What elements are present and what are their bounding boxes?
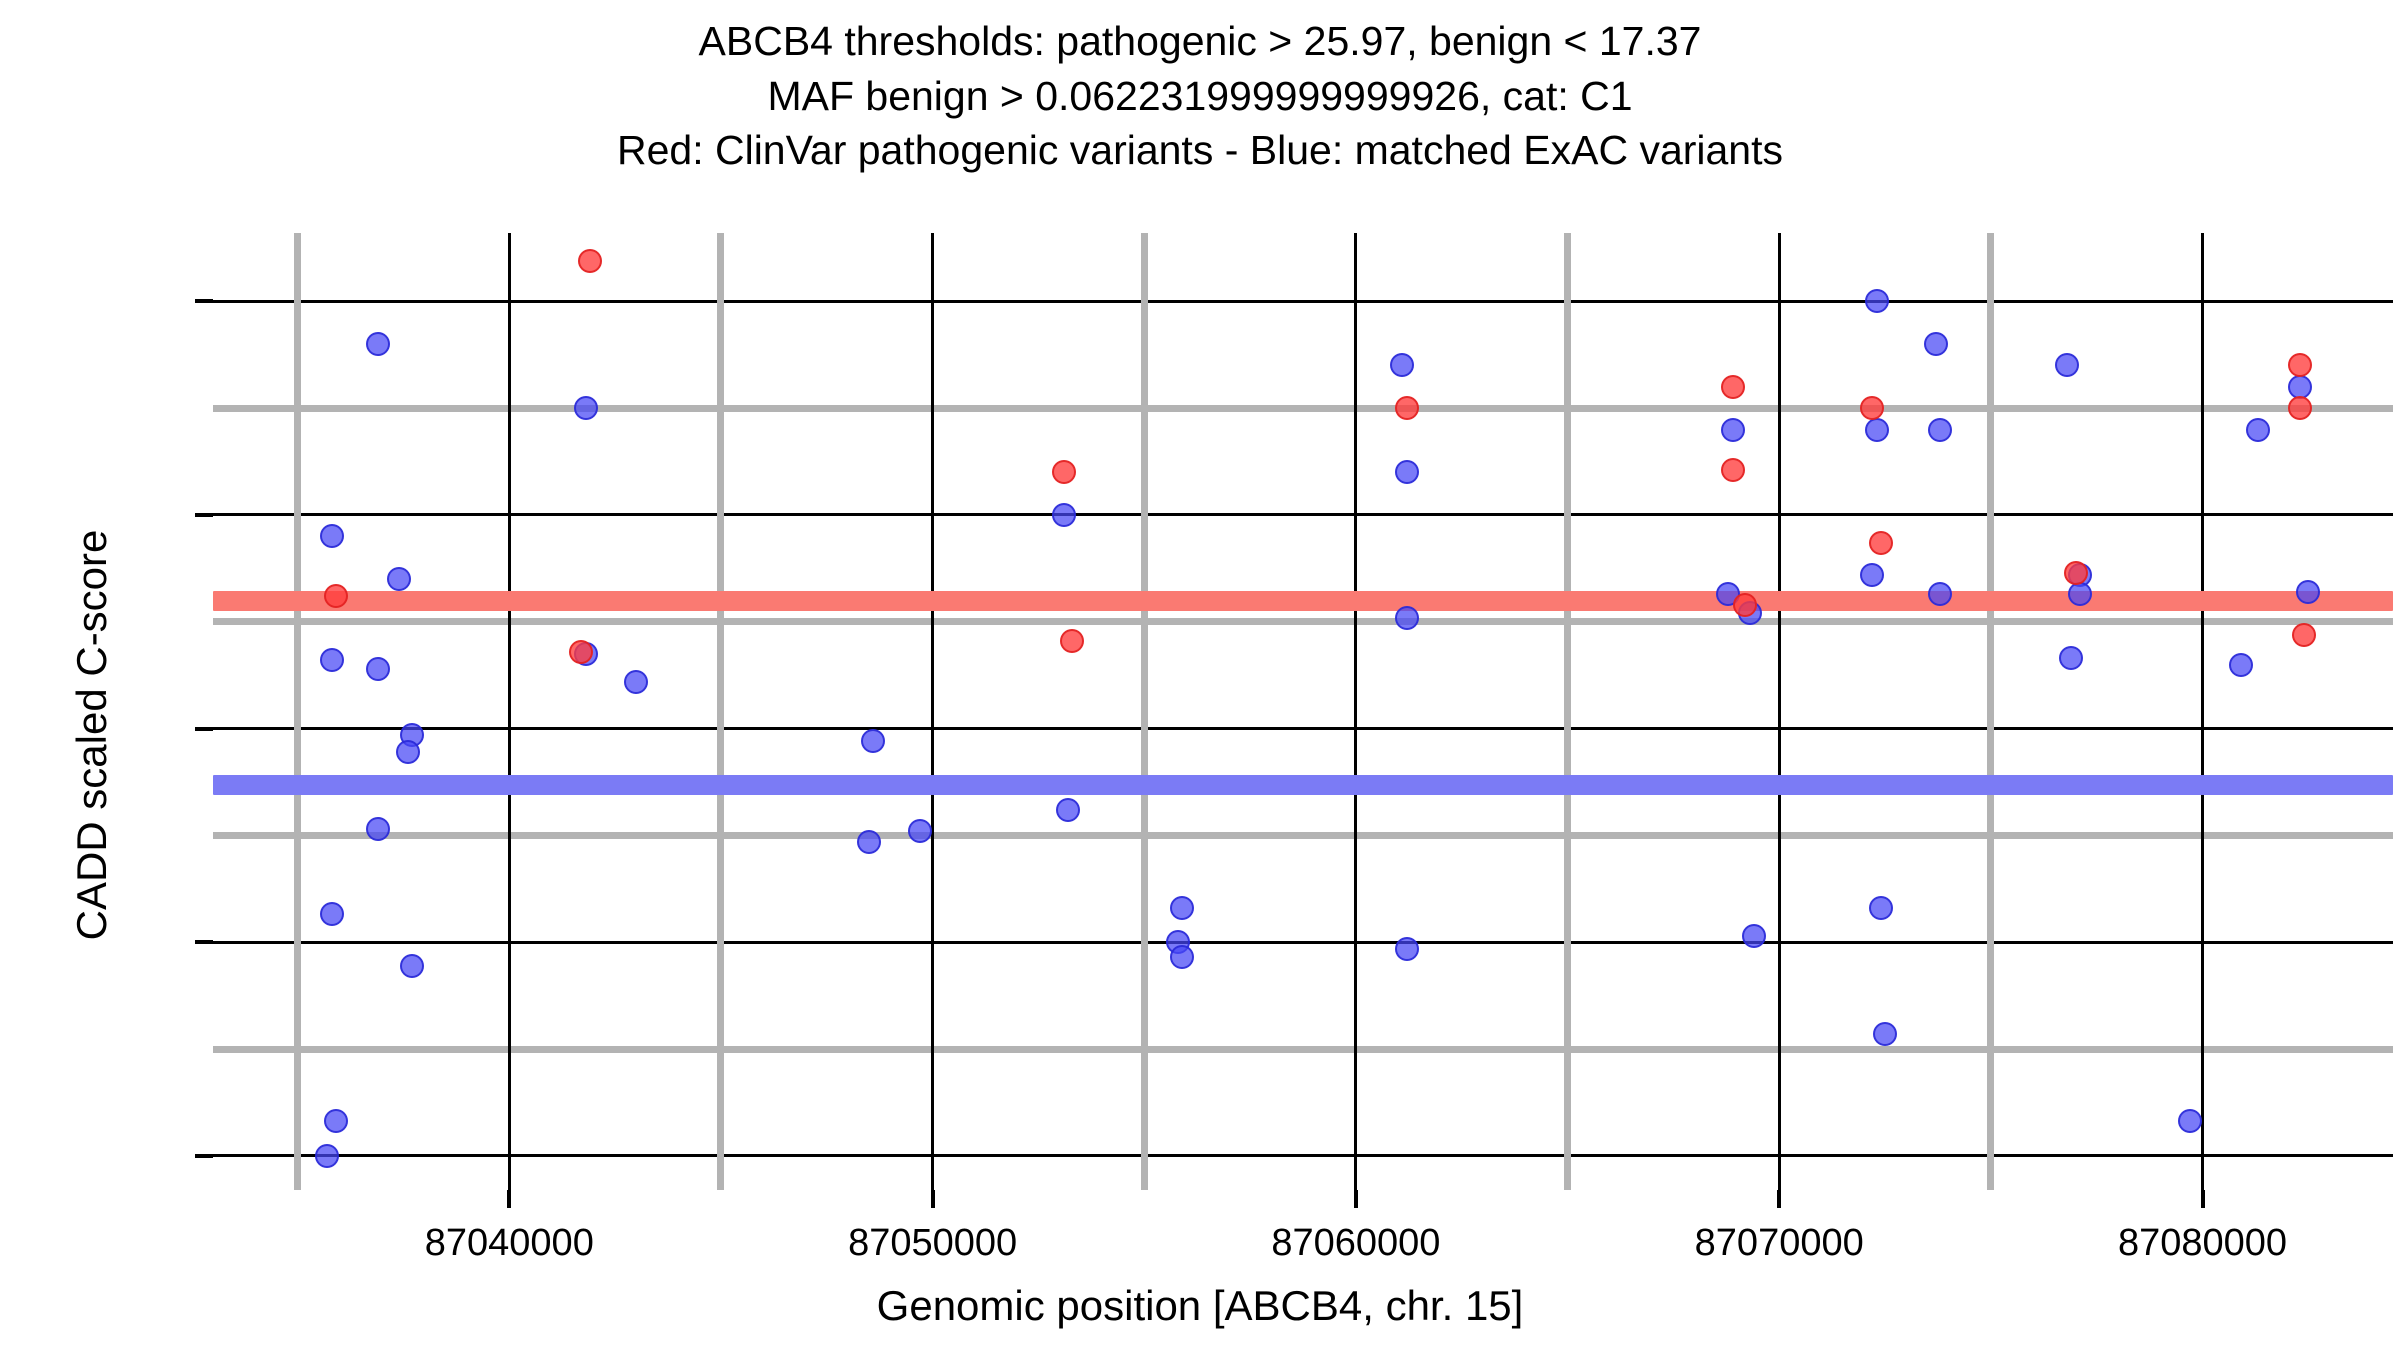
gridline-vertical-major xyxy=(1354,233,1357,1190)
gridline-horizontal-minor xyxy=(213,832,2393,839)
data-point-blue xyxy=(2229,653,2253,677)
chart-title: ABCB4 thresholds: pathogenic > 25.97, be… xyxy=(0,14,2400,178)
data-point-blue xyxy=(1873,1022,1897,1046)
data-point-red xyxy=(1052,460,1076,484)
data-point-red xyxy=(1869,531,1893,555)
x-tick-label: 87080000 xyxy=(2118,1222,2287,1265)
data-point-red xyxy=(1860,396,1884,420)
gridline-horizontal-minor xyxy=(213,405,2393,412)
data-point-blue xyxy=(1928,418,1952,442)
chart-canvas: ABCB4 thresholds: pathogenic > 25.97, be… xyxy=(0,0,2400,1350)
data-point-blue xyxy=(1860,563,1884,587)
title-line-2: MAF benign > 0.062231999999999926, cat: … xyxy=(0,69,2400,124)
data-point-blue xyxy=(2246,418,2270,442)
data-point-blue xyxy=(320,902,344,926)
gridline-vertical-minor xyxy=(1987,233,1994,1190)
data-point-blue xyxy=(1390,353,1414,377)
x-tick-mark xyxy=(931,1190,935,1208)
data-point-blue xyxy=(624,670,648,694)
x-tick-mark xyxy=(1777,1190,1781,1208)
data-point-red xyxy=(1060,629,1084,653)
x-tick-mark xyxy=(507,1190,511,1208)
y-tick-mark xyxy=(195,1154,213,1158)
data-point-blue xyxy=(1395,460,1419,484)
data-point-blue xyxy=(1170,945,1194,969)
data-point-blue xyxy=(396,740,420,764)
title-line-1: ABCB4 thresholds: pathogenic > 25.97, be… xyxy=(0,14,2400,69)
y-tick-mark xyxy=(195,727,213,731)
data-point-blue xyxy=(1928,582,1952,606)
data-point-blue xyxy=(861,729,885,753)
gridline-horizontal-major xyxy=(213,1154,2393,1157)
data-point-blue xyxy=(1865,418,1889,442)
data-point-blue xyxy=(1742,924,1766,948)
data-point-red xyxy=(1721,375,1745,399)
threshold-line-pathogenic xyxy=(213,591,2393,611)
title-line-3: Red: ClinVar pathogenic variants - Blue:… xyxy=(0,123,2400,178)
data-point-blue xyxy=(2178,1109,2202,1133)
threshold-line-benign xyxy=(213,775,2393,795)
x-tick-label: 87060000 xyxy=(1271,1222,1440,1265)
data-point-blue xyxy=(1721,418,1745,442)
data-point-blue xyxy=(2068,582,2092,606)
gridline-vertical-minor xyxy=(1564,233,1571,1190)
x-tick-mark xyxy=(1354,1190,1358,1208)
gridline-vertical-major xyxy=(508,233,511,1190)
gridline-vertical-minor xyxy=(294,233,301,1190)
data-point-blue xyxy=(315,1144,339,1168)
data-point-blue xyxy=(400,954,424,978)
data-point-blue xyxy=(366,332,390,356)
x-tick-label: 87040000 xyxy=(425,1222,594,1265)
data-point-red xyxy=(2288,396,2312,420)
gridline-horizontal-major xyxy=(213,941,2393,944)
data-point-blue xyxy=(574,396,598,420)
data-point-blue xyxy=(1052,503,1076,527)
data-point-blue xyxy=(366,657,390,681)
data-point-blue xyxy=(857,830,881,854)
x-tick-label: 87070000 xyxy=(1695,1222,1864,1265)
y-tick-mark xyxy=(195,299,213,303)
data-point-blue xyxy=(1865,289,1889,313)
data-point-blue xyxy=(1395,937,1419,961)
data-point-blue xyxy=(320,648,344,672)
data-point-red xyxy=(578,249,602,273)
gridline-vertical-minor xyxy=(1141,233,1148,1190)
data-point-red xyxy=(2292,623,2316,647)
data-point-red xyxy=(324,584,348,608)
y-tick-mark xyxy=(195,940,213,944)
gridline-vertical-major xyxy=(1778,233,1781,1190)
x-axis-label: Genomic position [ABCB4, chr. 15] xyxy=(0,1282,2400,1330)
data-point-blue xyxy=(1924,332,1948,356)
y-axis-label: CADD scaled C-score xyxy=(68,335,116,1135)
data-point-blue xyxy=(1056,798,1080,822)
data-point-blue xyxy=(366,817,390,841)
data-point-red xyxy=(2064,561,2088,585)
gridline-vertical-major xyxy=(2201,233,2204,1190)
data-point-red xyxy=(569,640,593,664)
data-point-blue xyxy=(1170,896,1194,920)
data-point-red xyxy=(1395,396,1419,420)
data-point-blue xyxy=(1869,896,1893,920)
gridline-horizontal-minor xyxy=(213,1046,2393,1053)
plot-area xyxy=(213,233,2393,1190)
data-point-blue xyxy=(2296,580,2320,604)
data-point-red xyxy=(2288,353,2312,377)
gridline-horizontal-minor xyxy=(213,618,2393,625)
data-point-red xyxy=(1733,593,1757,617)
data-point-red xyxy=(1721,458,1745,482)
data-point-blue xyxy=(387,567,411,591)
data-point-blue xyxy=(2055,353,2079,377)
data-point-blue xyxy=(908,819,932,843)
data-point-blue xyxy=(324,1109,348,1133)
gridline-horizontal-major xyxy=(213,727,2393,730)
gridline-vertical-major xyxy=(931,233,934,1190)
x-tick-mark xyxy=(2201,1190,2205,1208)
gridline-vertical-minor xyxy=(717,233,724,1190)
data-point-blue xyxy=(1395,606,1419,630)
gridline-horizontal-major xyxy=(213,513,2393,516)
data-point-blue xyxy=(2059,646,2083,670)
gridline-horizontal-major xyxy=(213,300,2393,303)
x-tick-label: 87050000 xyxy=(848,1222,1017,1265)
data-point-blue xyxy=(320,524,344,548)
y-tick-mark xyxy=(195,513,213,517)
